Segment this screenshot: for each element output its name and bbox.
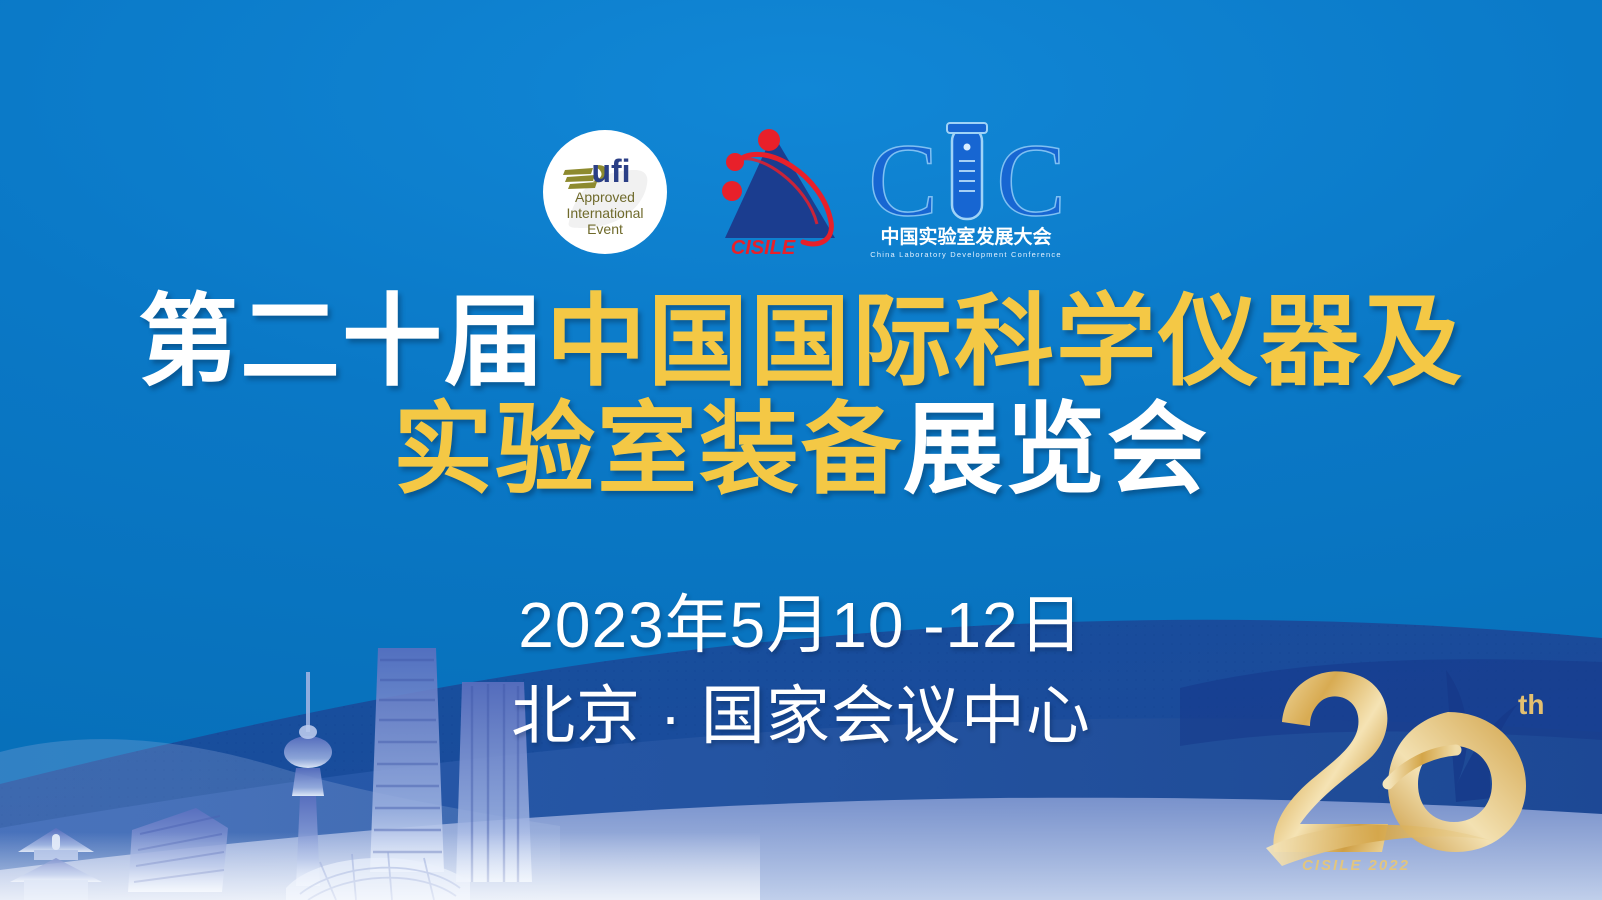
anniversary-ordinal: th (1518, 689, 1544, 720)
cic-test-tube-icon (947, 123, 987, 219)
ufi-line-event: Event (587, 221, 623, 237)
title-part-edition: 第二十届 (138, 286, 546, 398)
ufi-logo: ufi Approved International Event (539, 126, 671, 258)
ufi-line-approved: Approved (575, 189, 635, 205)
event-title: 第二十届中国国际科学仪器及 实验室装备展览会 (0, 288, 1602, 504)
cic-chinese-name: 中国实验室发展大会 (880, 225, 1051, 248)
title-part-main-b: 实验室装备 (393, 394, 903, 506)
title-part-main-a: 中国国际科学仪器及 (546, 286, 1464, 398)
ufi-wordmark: ufi (591, 153, 630, 189)
poster-canvas: ufi Approved International Event CISILE … (0, 0, 1602, 900)
cic-letter-c-right: C (996, 123, 1064, 238)
ufi-line-international: International (566, 205, 643, 221)
cisile-logo: CISILE (695, 118, 845, 266)
cic-letter-c-left: C (869, 123, 938, 238)
anniversary-caption: CISILE 2022 (1302, 857, 1410, 874)
event-title-line-1: 第二十届中国国际科学仪器及 (0, 288, 1602, 396)
organizer-logo-row: ufi Approved International Event CISILE … (0, 112, 1602, 272)
cisile-triangle-icon (725, 134, 835, 238)
cisile-wordmark: CISILE (730, 237, 795, 259)
cic-logo: C C 中国实验室发展大会 China Laboratory Developme… (869, 117, 1064, 267)
title-part-expo: 展览会 (903, 394, 1209, 506)
event-title-line-2: 实验室装备展览会 (0, 396, 1602, 504)
twentieth-anniversary-emblem: th CISILE 2022 (1260, 652, 1560, 882)
cic-english-name: China Laboratory Development Conference (870, 250, 1061, 259)
